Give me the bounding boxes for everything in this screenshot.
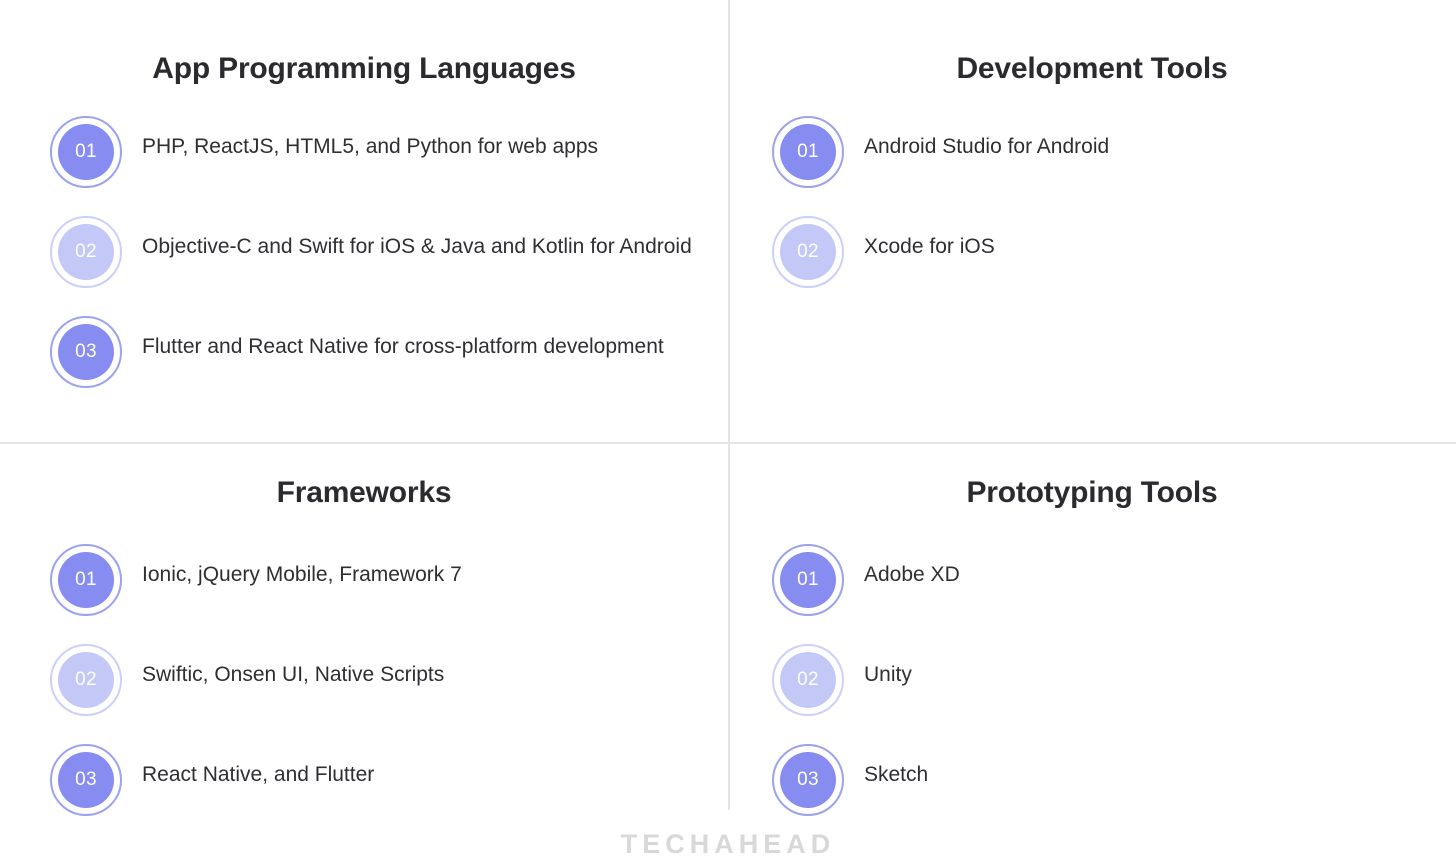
list-item[interactable]: 02 Swiftic, Onsen UI, Native Scripts bbox=[50, 644, 710, 744]
number-badge-label: 01 bbox=[780, 124, 836, 180]
number-badge: 02 bbox=[772, 216, 844, 288]
number-badge-label: 02 bbox=[780, 652, 836, 708]
quadrant-title: Prototyping Tools bbox=[728, 442, 1456, 508]
number-badge: 01 bbox=[772, 116, 844, 188]
number-badge-label: 03 bbox=[780, 752, 836, 808]
number-badge: 02 bbox=[50, 216, 122, 288]
infographic-board: App Programming Languages 01 PHP, ReactJ… bbox=[0, 0, 1456, 866]
list-item-text: Swiftic, Onsen UI, Native Scripts bbox=[142, 644, 444, 690]
list-item-text: Objective-C and Swift for iOS & Java and… bbox=[142, 216, 692, 262]
quadrant-frameworks: Frameworks 01 Ionic, jQuery Mobile, Fram… bbox=[0, 442, 728, 866]
quadrant-development-tools: Development Tools 01 Android Studio for … bbox=[728, 0, 1456, 442]
quadrant-item-list: 01 Android Studio for Android 02 Xcode f… bbox=[728, 116, 1456, 316]
list-item-text: PHP, ReactJS, HTML5, and Python for web … bbox=[142, 116, 598, 162]
quadrant-item-list: 01 Ionic, jQuery Mobile, Framework 7 02 … bbox=[0, 544, 728, 844]
list-item[interactable]: 02 Unity bbox=[772, 644, 1438, 744]
quadrant-title: Frameworks bbox=[0, 442, 728, 508]
list-item-text: React Native, and Flutter bbox=[142, 744, 374, 790]
list-item[interactable]: 01 Android Studio for Android bbox=[772, 116, 1438, 216]
quadrant-title: Development Tools bbox=[728, 0, 1456, 84]
list-item[interactable]: 01 PHP, ReactJS, HTML5, and Python for w… bbox=[50, 116, 710, 216]
list-item-text: Android Studio for Android bbox=[864, 116, 1109, 162]
number-badge: 01 bbox=[50, 116, 122, 188]
quadrant-title: App Programming Languages bbox=[0, 0, 728, 84]
quadrant-prototyping-tools: Prototyping Tools 01 Adobe XD 02 Unity bbox=[728, 442, 1456, 866]
number-badge-label: 02 bbox=[58, 652, 114, 708]
number-badge: 01 bbox=[50, 544, 122, 616]
number-badge-label: 02 bbox=[780, 224, 836, 280]
list-item-text: Flutter and React Native for cross-platf… bbox=[142, 316, 664, 362]
number-badge-label: 03 bbox=[58, 752, 114, 808]
quadrant-app-programming-languages: App Programming Languages 01 PHP, ReactJ… bbox=[0, 0, 728, 442]
quadrant-item-list: 01 PHP, ReactJS, HTML5, and Python for w… bbox=[0, 116, 728, 416]
number-badge: 03 bbox=[50, 316, 122, 388]
list-item[interactable]: 01 Ionic, jQuery Mobile, Framework 7 bbox=[50, 544, 710, 644]
list-item[interactable]: 02 Xcode for iOS bbox=[772, 216, 1438, 316]
list-item-text: Sketch bbox=[864, 744, 928, 790]
number-badge-label: 01 bbox=[780, 552, 836, 608]
list-item-text: Adobe XD bbox=[864, 544, 960, 590]
list-item[interactable]: 01 Adobe XD bbox=[772, 544, 1438, 644]
number-badge-label: 03 bbox=[58, 324, 114, 380]
number-badge: 03 bbox=[772, 744, 844, 816]
list-item[interactable]: 03 Flutter and React Native for cross-pl… bbox=[50, 316, 710, 416]
quadrant-grid: App Programming Languages 01 PHP, ReactJ… bbox=[0, 0, 1456, 866]
number-badge-label: 02 bbox=[58, 224, 114, 280]
list-item-text: Xcode for iOS bbox=[864, 216, 995, 262]
list-item[interactable]: 02 Objective-C and Swift for iOS & Java … bbox=[50, 216, 710, 316]
number-badge-label: 01 bbox=[58, 124, 114, 180]
number-badge: 02 bbox=[50, 644, 122, 716]
number-badge: 03 bbox=[50, 744, 122, 816]
number-badge: 01 bbox=[772, 544, 844, 616]
list-item-text: Unity bbox=[864, 644, 912, 690]
number-badge: 02 bbox=[772, 644, 844, 716]
quadrant-item-list: 01 Adobe XD 02 Unity 03 Sketch bbox=[728, 544, 1456, 844]
list-item-text: Ionic, jQuery Mobile, Framework 7 bbox=[142, 544, 462, 590]
number-badge-label: 01 bbox=[58, 552, 114, 608]
techahead-watermark: TECHAHEAD bbox=[0, 829, 1456, 860]
